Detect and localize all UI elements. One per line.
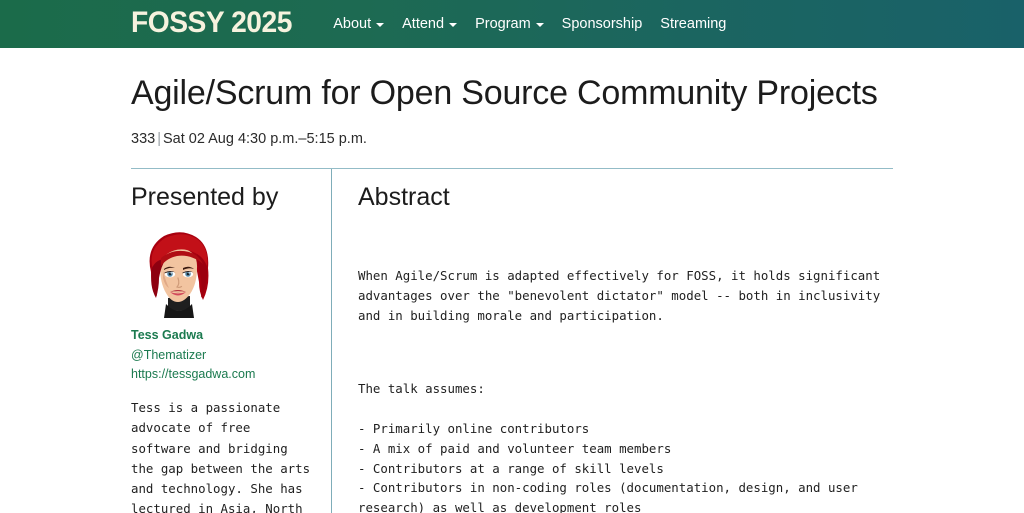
nav-item-program[interactable]: Program — [466, 11, 553, 38]
abstract-column: Abstract When Agile/Scrum is adapted eff… — [331, 169, 893, 513]
presenter-bio: Tess is a passionate advocate of free so… — [131, 398, 317, 513]
talk-meta: 333|Sat 02 Aug 4:30 p.m.–5:15 p.m. — [131, 131, 893, 148]
main-navigation: About Attend Program Sponsorship Streami… — [324, 11, 735, 38]
nav-item-streaming[interactable]: Streaming — [651, 11, 735, 38]
avatar-illustration — [133, 226, 225, 318]
assumption-item-3: - Contributors at a range of skill level… — [358, 461, 664, 476]
presenter-name: Tess Gadwa — [131, 326, 317, 345]
presenter-avatar — [133, 226, 225, 318]
presented-by-heading: Presented by — [131, 183, 317, 212]
content-columns: Presented by — [131, 169, 893, 513]
nav-item-attend-label: Attend — [402, 17, 444, 32]
nav-item-about[interactable]: About — [324, 11, 393, 38]
talk-schedule: Sat 02 Aug 4:30 p.m.–5:15 p.m. — [163, 131, 367, 147]
assumption-item-4: - Contributors in non-coding roles (docu… — [358, 480, 865, 513]
page-container: Agile/Scrum for Open Source Community Pr… — [0, 74, 1024, 513]
presenter-column: Presented by — [131, 169, 331, 513]
nav-item-sponsorship[interactable]: Sponsorship — [553, 11, 652, 38]
presenter-website-link[interactable]: https://tessgadwa.com — [131, 365, 317, 384]
chevron-down-icon — [536, 23, 544, 27]
abstract-assumptions-block: The talk assumes:- Primarily online cont… — [358, 379, 893, 513]
assumption-item-2: - A mix of paid and volunteer team membe… — [358, 441, 671, 456]
presenter-handle[interactable]: @Thematizer — [131, 346, 317, 365]
talk-room-number: 333 — [131, 131, 155, 147]
assumptions-intro: The talk assumes: — [358, 381, 485, 396]
nav-item-attend[interactable]: Attend — [393, 11, 466, 38]
chevron-down-icon — [376, 23, 384, 27]
chevron-down-icon — [449, 23, 457, 27]
nav-item-about-label: About — [333, 17, 371, 32]
page-title: Agile/Scrum for Open Source Community Pr… — [131, 74, 893, 113]
site-navbar: FOSSY 2025 About Attend Program Sponsors… — [0, 0, 1024, 48]
nav-item-program-label: Program — [475, 17, 531, 32]
abstract-heading: Abstract — [358, 183, 893, 212]
assumption-item-1: - Primarily online contributors — [358, 421, 589, 436]
abstract-paragraph-1: When Agile/Scrum is adapted effectively … — [358, 266, 893, 326]
site-logo[interactable]: FOSSY 2025 — [131, 8, 292, 40]
meta-separator: | — [155, 131, 163, 147]
abstract-body: When Agile/Scrum is adapted effectively … — [358, 226, 893, 513]
